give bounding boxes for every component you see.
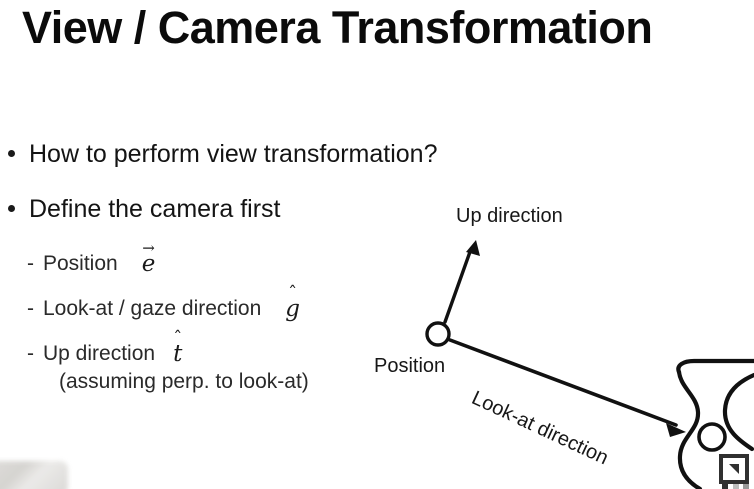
bullet-label-1: How to perform view transformation? <box>29 139 437 169</box>
sub-bullet-lookat: - Look-at / gaze direction ˆ g <box>27 296 300 322</box>
page-title: View / Camera Transformation <box>22 2 652 54</box>
bullet-dot-icon <box>8 150 15 157</box>
sub-bullet-note-perpendicular: (assuming perp. to look-at) <box>59 368 309 395</box>
sub-bullet-label-updirection: Up direction <box>43 341 155 367</box>
e-vector-icon: → e <box>142 251 156 277</box>
diagram-label-up-direction: Up direction <box>456 204 563 228</box>
bullet-label-2: Define the camera first <box>29 194 281 224</box>
sound-hole-circle <box>699 424 725 450</box>
hat-accent-glyph: ˆ <box>173 330 182 348</box>
up-direction-arrow <box>445 240 480 322</box>
sub-bullet-label-position: Position <box>43 251 118 277</box>
qr-code-watermark <box>721 456 749 489</box>
bullet-item-1: How to perform view transformation? <box>8 139 437 169</box>
diagram-label-position: Position <box>374 354 445 378</box>
sub-bullet-position: - Position → e <box>27 251 155 277</box>
bullet-item-2: Define the camera first <box>8 194 281 224</box>
guitar-outline-shape <box>678 361 754 489</box>
diagram-label-look-at-direction: Look-at direction <box>468 386 612 470</box>
sub-bullet-label-lookat: Look-at / gaze direction <box>43 296 261 322</box>
sub-bullet-dash-icon: - <box>27 296 43 322</box>
slide-canvas: View / Camera Transformation How to perf… <box>0 0 754 489</box>
blurred-corner-overlay <box>0 461 68 489</box>
t-hat-icon: ˆ t <box>173 341 182 367</box>
sub-bullet-dash-icon: - <box>27 341 43 367</box>
sub-bullet-dash-icon: - <box>27 251 43 277</box>
g-hat-icon: ˆ g <box>285 296 300 322</box>
hat-accent-glyph: ˆ <box>285 285 300 303</box>
sub-bullet-updirection: - Up direction ˆ t <box>27 341 182 367</box>
camera-diagram <box>0 0 754 489</box>
bullet-dot-icon <box>8 205 15 212</box>
camera-position-circle <box>427 323 449 345</box>
vector-accent-glyph: → <box>142 241 156 256</box>
